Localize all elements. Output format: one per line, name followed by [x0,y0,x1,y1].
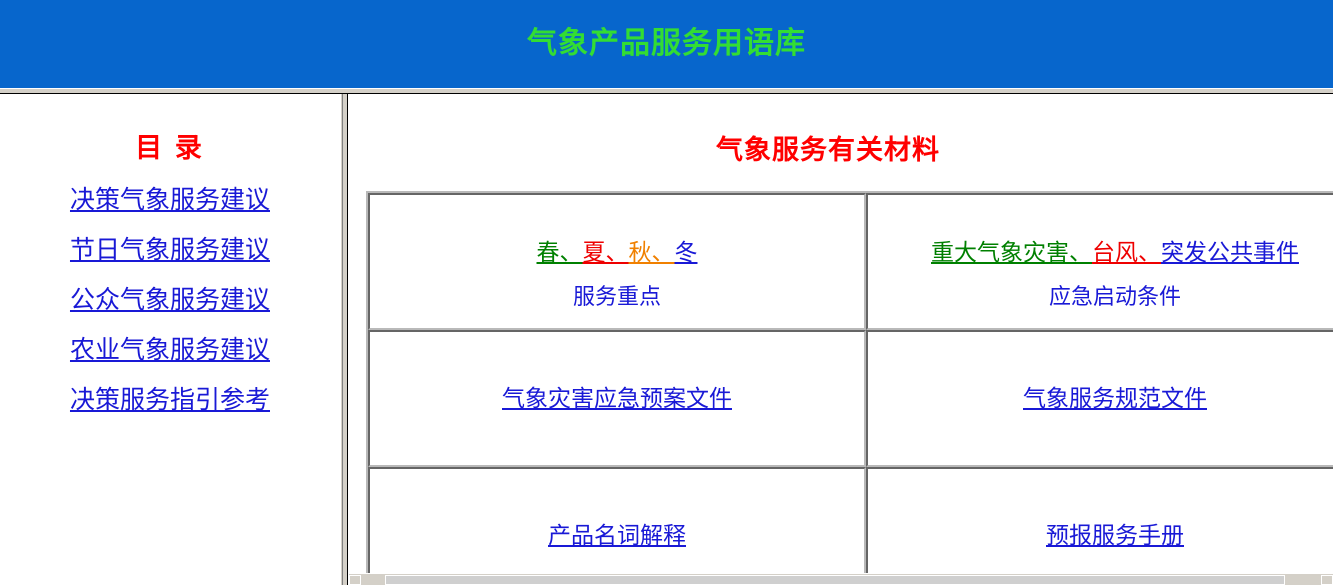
table-row: 产品名词解释 预报服务手册 [368,467,1333,585]
link-forecast-service-manual[interactable]: 预报服务手册 [1046,522,1184,550]
season-autumn: 秋、 [629,240,675,265]
table-row: 春、夏、秋、冬 服务重点 重大气象灾害、台风、突发公共事件 应急启动条件 [368,193,1333,330]
caption-emergency-trigger: 应急启动条件 [868,284,1333,310]
list-item: 决策服务指引参考 [0,373,340,423]
table-cell-service-standards: 气象服务规范文件 [866,330,1333,467]
sidebar-item-agriculture-advice[interactable]: 农业气象服务建议 [70,330,270,366]
scrollbar-thumb[interactable] [385,575,1285,585]
materials-table: 春、夏、秋、冬 服务重点 重大气象灾害、台风、突发公共事件 应急启动条件 [366,191,1333,585]
banner-frame: 气象产品服务用语库 [0,0,1333,88]
segment-public-emergency: 突发公共事件 [1161,240,1299,265]
scroll-right-arrow-icon[interactable] [1321,575,1333,585]
scroll-left-arrow-icon[interactable] [349,575,361,585]
link-seasons[interactable]: 春、夏、秋、冬 [537,239,698,267]
link-product-glossary[interactable]: 产品名词解释 [548,522,686,550]
segment-major-disaster: 重大气象灾害、 [931,240,1092,265]
vertical-frame-divider[interactable] [340,94,348,585]
sidebar-item-decision-guide[interactable]: 决策服务指引参考 [70,380,270,416]
caption-service-focus: 服务重点 [370,284,864,310]
cell-content: 重大气象灾害、台风、突发公共事件 应急启动条件 [868,213,1333,311]
segment-typhoon: 台风、 [1092,240,1161,265]
link-emergency-plan-docs[interactable]: 气象灾害应急预案文件 [502,385,732,413]
horizontal-scrollbar[interactable] [349,573,1333,585]
table-cell-major-events: 重大气象灾害、台风、突发公共事件 应急启动条件 [866,193,1333,330]
table-row: 气象灾害应急预案文件 气象服务规范文件 [368,330,1333,467]
sidebar-item-decision-advice[interactable]: 决策气象服务建议 [70,180,270,216]
season-winter: 冬 [675,240,698,265]
sidebar-item-public-advice[interactable]: 公众气象服务建议 [70,280,270,316]
list-item: 决策气象服务建议 [0,173,340,223]
cell-content: 春、夏、秋、冬 服务重点 [370,213,864,311]
sidebar-list: 决策气象服务建议 节日气象服务建议 公众气象服务建议 农业气象服务建议 决策服务… [0,173,340,423]
main-frame: 气象服务有关材料 春、夏、秋、冬 服务重点 [349,94,1333,585]
list-item: 公众气象服务建议 [0,273,340,323]
table-cell-glossary: 产品名词解释 [368,467,866,585]
link-major-disasters[interactable]: 重大气象灾害、台风、突发公共事件 [931,239,1299,267]
page-root: 气象产品服务用语库 目 录 决策气象服务建议 节日气象服务建议 公众气象服务建议… [0,0,1333,585]
table-cell-emergency-plan: 气象灾害应急预案文件 [368,330,866,467]
main-heading: 气象服务有关材料 [349,128,1333,167]
sidebar-title: 目 录 [0,126,340,165]
table-cell-forecast-manual: 预报服务手册 [866,467,1333,585]
season-spring: 春、 [537,240,583,265]
divider-line [342,94,343,585]
page-title: 气象产品服务用语库 [0,0,1333,88]
list-item: 农业气象服务建议 [0,323,340,373]
table-cell-seasons: 春、夏、秋、冬 服务重点 [368,193,866,330]
list-item: 节日气象服务建议 [0,223,340,273]
season-summer: 夏、 [583,240,629,265]
sidebar-frame: 目 录 决策气象服务建议 节日气象服务建议 公众气象服务建议 农业气象服务建议 … [0,94,340,585]
sidebar-item-holiday-advice[interactable]: 节日气象服务建议 [70,230,270,266]
link-service-standard-docs[interactable]: 气象服务规范文件 [1023,385,1207,413]
